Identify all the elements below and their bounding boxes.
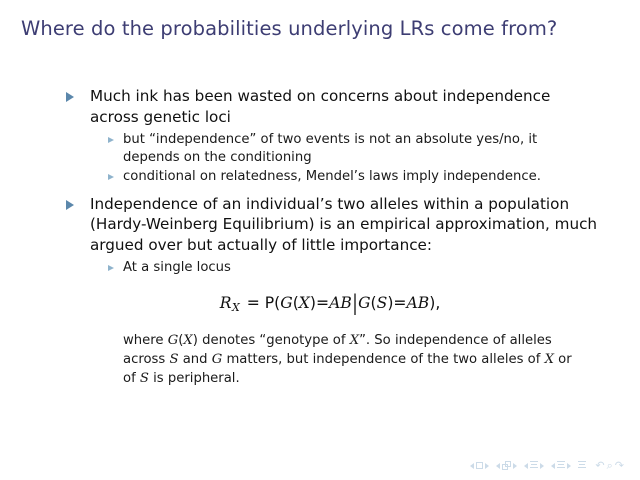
math-variable-g: G <box>212 352 223 367</box>
history-navigation-group[interactable]: ↶ ⌕ ↷ <box>595 460 624 471</box>
list-item-label: conditional on relatedness, Mendel’s law… <box>123 169 541 184</box>
sublist: At a single locus <box>0 259 640 277</box>
list-item: At a single locus <box>0 259 640 277</box>
list-item-label: Independence of an individual’s two alle… <box>90 195 597 254</box>
equation-condition-argument: S <box>377 294 388 312</box>
list-item: but “independence” of two events is not … <box>0 131 640 167</box>
math-variable-x: X <box>350 333 359 348</box>
sublist: but “independence” of two events is not … <box>0 131 640 187</box>
next-section-icon[interactable] <box>567 463 571 469</box>
list-item: Independence of an individual’s two alle… <box>0 194 640 256</box>
beamer-slide: Where do the probabilities underlying LR… <box>0 0 640 480</box>
beamer-navigation-bar[interactable]: ↶ ⌕ ↷ <box>470 460 624 471</box>
search-icon[interactable]: ⌕ <box>607 460 613 471</box>
math-variable-s: S <box>169 352 178 367</box>
previous-slide-icon[interactable] <box>470 463 474 469</box>
equation-conditioning-bar: | <box>352 291 357 315</box>
paragraph-segment: is peripheral. <box>149 371 240 386</box>
equation-condition-value: AB <box>407 294 430 312</box>
equation-lhs-subscript: X <box>232 301 240 314</box>
frame-icon[interactable] <box>502 461 511 470</box>
closing-paragraph: where G(X) denotes “genotype of X”. So i… <box>0 332 640 388</box>
list-item: conditional on relatedness, Mendel’s law… <box>0 168 640 186</box>
triangle-bullet-icon <box>66 200 74 210</box>
triangle-bullet-icon <box>108 265 114 271</box>
subsection-navigation-group[interactable] <box>524 461 544 470</box>
back-icon[interactable]: ↶ <box>595 460 604 471</box>
next-subsection-icon[interactable] <box>540 463 544 469</box>
section-navigation-group[interactable] <box>551 461 571 470</box>
previous-section-icon[interactable] <box>551 463 555 469</box>
math-variable-g: G <box>168 333 179 348</box>
list-item-label: but “independence” of two events is not … <box>123 132 537 165</box>
equation-event-argument: X <box>299 294 310 312</box>
triangle-bullet-icon <box>66 92 74 102</box>
triangle-bullet-icon <box>108 174 114 180</box>
document-icon[interactable] <box>578 461 586 470</box>
equation-event-equals: = <box>316 294 329 312</box>
math-variable-s: S <box>140 371 149 386</box>
display-equation: RX = P(G(X)=AB|G(S)=AB), <box>0 294 640 314</box>
next-slide-icon[interactable] <box>485 463 489 469</box>
next-frame-icon[interactable] <box>513 463 517 469</box>
equation-event-value: AB <box>329 294 352 312</box>
list-item-label: At a single locus <box>123 260 231 275</box>
paragraph-segment: matters, but independence of the two all… <box>222 352 544 367</box>
paragraph-segment: where <box>123 333 168 348</box>
subsection-icon[interactable] <box>530 461 538 470</box>
previous-subsection-icon[interactable] <box>524 463 528 469</box>
equation-condition-function: G <box>358 294 370 312</box>
slide-body: Much ink has been wasted on concerns abo… <box>0 86 640 388</box>
equation-event-function: G <box>280 294 292 312</box>
equation-condition-equals: = <box>393 294 406 312</box>
page-title: Where do the probabilities underlying LR… <box>21 17 621 41</box>
math-variable-x: X <box>183 333 192 348</box>
math-variable-x: X <box>545 352 554 367</box>
list-item-label: Much ink has been wasted on concerns abo… <box>90 87 550 126</box>
slide-navigation-group[interactable] <box>470 462 489 469</box>
equation-equals: = <box>247 294 260 312</box>
previous-frame-icon[interactable] <box>496 463 500 469</box>
equation-lhs-variable: R <box>220 294 232 312</box>
triangle-bullet-icon <box>108 137 114 143</box>
slide-icon[interactable] <box>476 462 483 469</box>
equation-probability-operator: P <box>265 294 274 312</box>
equation-trailing-comma: , <box>435 294 440 312</box>
list-item: Much ink has been wasted on concerns abo… <box>0 86 640 127</box>
paragraph-segment: and <box>179 352 212 367</box>
paragraph-segment: ) denotes “genotype of <box>193 333 350 348</box>
section-icon[interactable] <box>557 461 565 470</box>
frame-navigation-group[interactable] <box>496 461 517 470</box>
forward-icon[interactable]: ↷ <box>615 460 624 471</box>
